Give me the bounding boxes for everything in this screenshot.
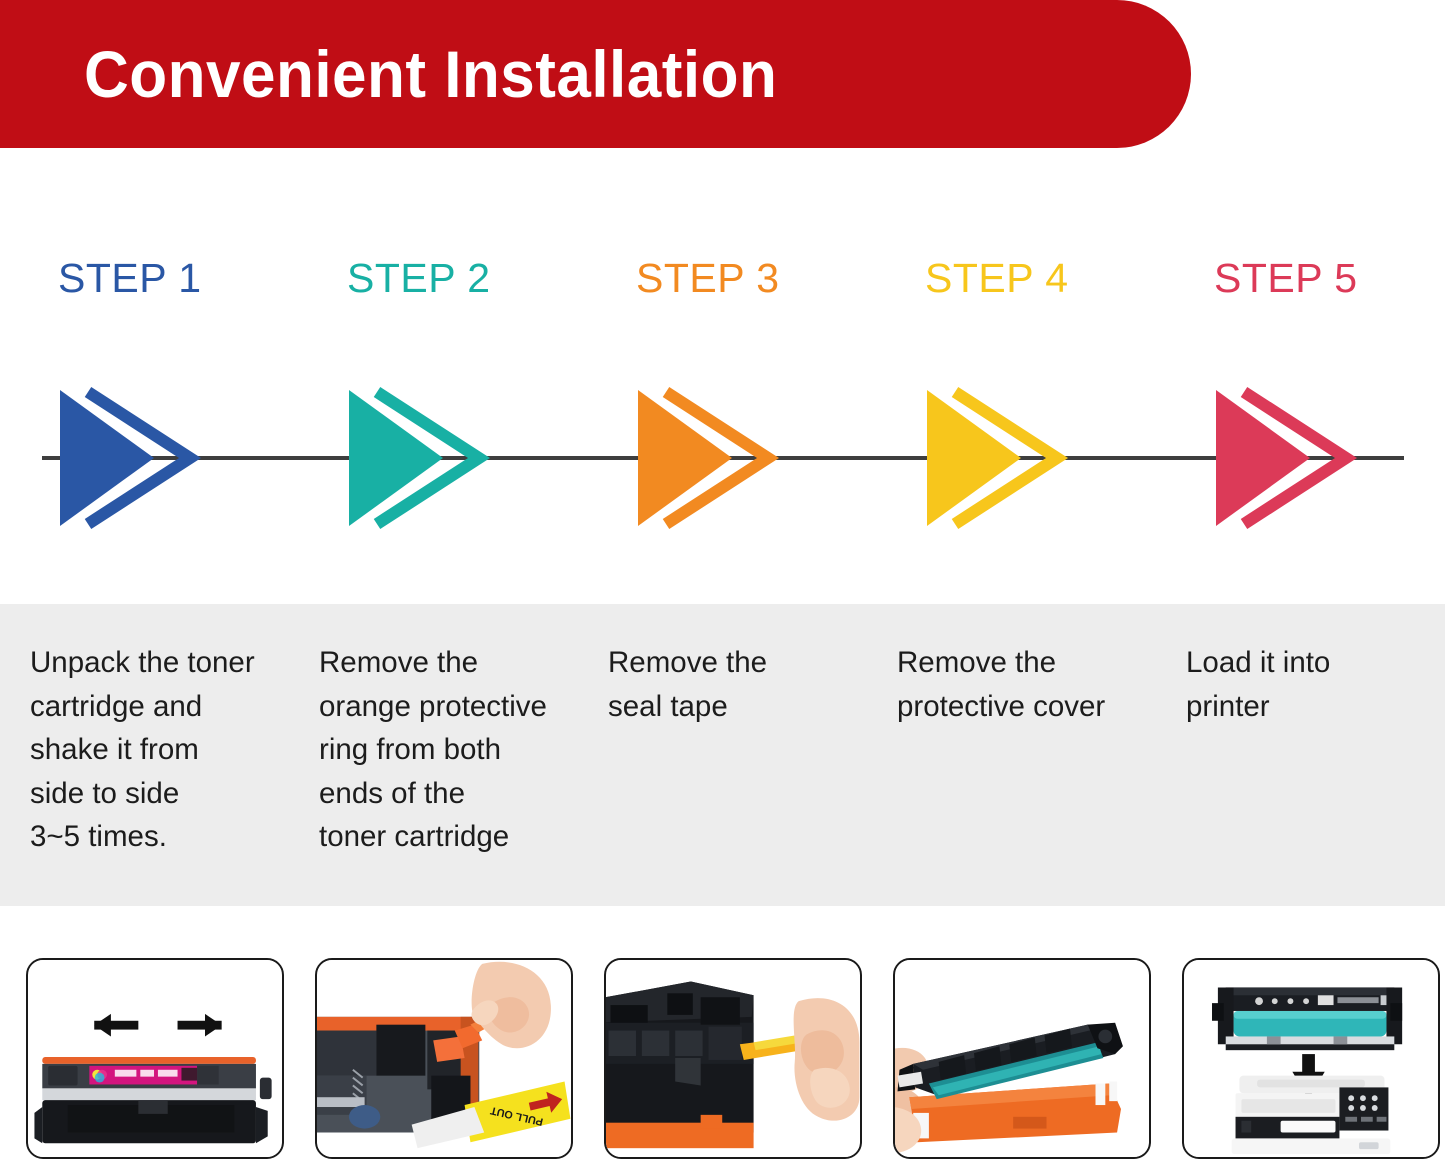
hand-removing-protective-cover-photo	[893, 958, 1151, 1159]
step-description-1: Unpack the toner cartridge and shake it …	[30, 641, 282, 859]
arrow-cell-2	[289, 378, 578, 538]
descriptions-band: Unpack the toner cartridge and shake it …	[0, 604, 1445, 906]
double-arrow-right-icon	[608, 384, 828, 532]
header-banner: Convenient Installation	[0, 0, 1191, 148]
step-label-cell-1: STEP 1	[0, 255, 289, 325]
double-arrow-right-icon	[319, 384, 539, 532]
step-label-5: STEP 5	[1214, 255, 1358, 302]
hand-pulling-orange-ring-photo: PULL OUT	[315, 958, 573, 1159]
photo-panels-row: PULL OUT	[0, 958, 1445, 1159]
description-cell-1: Unpack the toner cartridge and shake it …	[0, 604, 289, 906]
arrow-markers-row	[0, 378, 1445, 538]
steps-timeline	[0, 378, 1445, 538]
description-cell-2: Remove the orange protective ring from b…	[289, 604, 578, 906]
photo-cell-2: PULL OUT	[289, 958, 578, 1159]
step-label-cell-3: STEP 3	[578, 255, 867, 325]
arrow-cell-4	[867, 378, 1156, 538]
step-description-3: Remove the seal tape	[608, 641, 860, 728]
double-arrow-right-icon	[1186, 384, 1406, 532]
photo-cell-4	[867, 958, 1156, 1159]
step-label-cell-4: STEP 4	[867, 255, 1156, 325]
step-label-cell-2: STEP 2	[289, 255, 578, 325]
step-label-2: STEP 2	[347, 255, 491, 302]
page-title: Convenient Installation	[84, 36, 777, 112]
arrow-cell-5	[1156, 378, 1445, 538]
step-label-3: STEP 3	[636, 255, 780, 302]
insert-cartridge-into-printer-photo	[1182, 958, 1440, 1159]
step-label-cell-5: STEP 5	[1156, 255, 1445, 325]
description-cell-4: Remove the protective cover	[867, 604, 1156, 906]
step-description-4: Remove the protective cover	[897, 641, 1149, 728]
photo-cell-3	[578, 958, 867, 1159]
description-cell-5: Load it into printer	[1156, 604, 1445, 906]
hand-pulling-seal-tape-photo	[604, 958, 862, 1159]
step-label-1: STEP 1	[58, 255, 202, 302]
arrow-cell-3	[578, 378, 867, 538]
double-arrow-right-icon	[897, 384, 1117, 532]
step-labels-row: STEP 1 STEP 2 STEP 3 STEP 4 STEP 5	[0, 255, 1445, 325]
step-description-2: Remove the orange protective ring from b…	[319, 641, 571, 859]
convenient-installation-infographic: Convenient Installation STEP 1 STEP 2 ST…	[0, 0, 1445, 1171]
photo-cell-1	[0, 958, 289, 1159]
double-arrow-right-icon	[30, 384, 250, 532]
step-label-4: STEP 4	[925, 255, 1069, 302]
step-description-5: Load it into printer	[1186, 641, 1438, 728]
arrow-cell-1	[0, 378, 289, 538]
description-cell-3: Remove the seal tape	[578, 604, 867, 906]
toner-cartridge-shake-photo	[26, 958, 284, 1159]
descriptions-row: Unpack the toner cartridge and shake it …	[0, 604, 1445, 906]
photo-cell-5	[1156, 958, 1445, 1159]
